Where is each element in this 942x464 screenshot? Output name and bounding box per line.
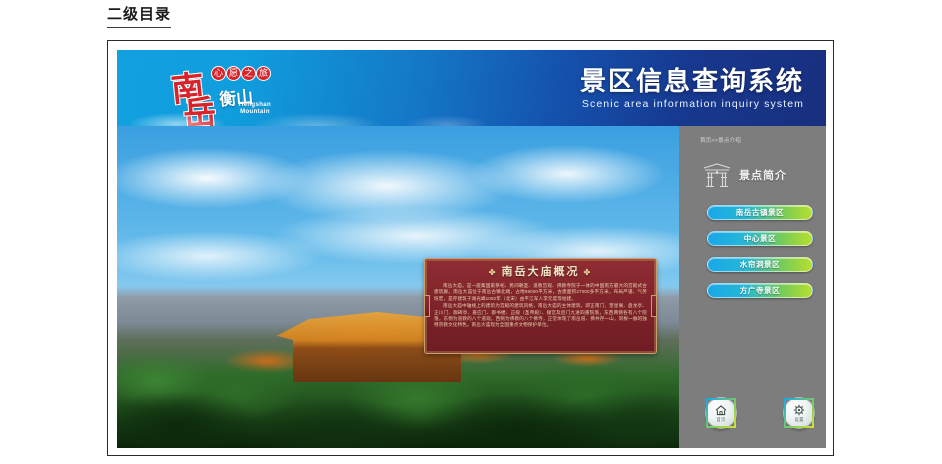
- gear-icon: [793, 404, 805, 416]
- system-title: 景区信息查询系统: [580, 66, 804, 96]
- nanyue-logo: 南 岳 心 愿 之 旅 衡山 Hengshan Mountain: [169, 60, 319, 120]
- breadcrumb[interactable]: 首页>>景点介绍: [700, 136, 741, 144]
- logo-badge-4: 旅: [256, 66, 271, 81]
- plaque-paragraph: 南岳大庙中轴线上的建筑为宫殿的建筑风格，南岳大庙的主体建筑，即正南门、奎星阁、盘…: [434, 303, 647, 329]
- sidebar-item-nanyue-ancient-town[interactable]: 南岳古镇景区: [707, 205, 813, 220]
- logo-badge-2: 愿: [226, 66, 241, 81]
- home-button[interactable]: 首页: [706, 398, 736, 428]
- ornament-left-icon: ✤: [489, 268, 498, 277]
- settings-button[interactable]: 设置: [784, 398, 814, 428]
- logo-char-yue: 岳: [181, 85, 217, 126]
- banner-title-block: 景区信息查询系统 Scenic area information inquiry…: [580, 66, 804, 111]
- section-header: 景点简介: [702, 154, 820, 196]
- sidebar-item-shuiliandong-scenic-area[interactable]: 水帘洞景区: [707, 257, 813, 272]
- plaque-title: ✤南岳大庙概况✤: [434, 265, 647, 280]
- plaque-paragraph: 南岳大庙，是一座集国家祭祀、民间朝圣、道教宫观、佛教寺院于一体的中国南方最大的宫…: [434, 283, 647, 302]
- home-icon: [715, 405, 727, 416]
- info-plaque: ✤南岳大庙概况✤ 南岳大庙，是一座集国家祭祀、民间朝圣、道教宫观、佛教寺院于一体…: [424, 258, 657, 354]
- sidebar-nav-list: 南岳古镇景区 中心景区 水帘洞景区 方广寺景区: [707, 205, 813, 298]
- chinese-gate-icon: [702, 161, 732, 189]
- sidebar-item-fangguangsi-scenic-area[interactable]: 方广寺景区: [707, 283, 813, 298]
- home-button-label: 首页: [716, 417, 725, 422]
- app-window: 南 岳 心 愿 之 旅 衡山 Hengshan Mountain 景区信息查询系…: [117, 50, 826, 448]
- system-subtitle: Scenic area information inquiry system: [580, 98, 804, 111]
- sidebar-action-buttons: 首页 设置: [706, 398, 814, 428]
- section-title: 景点简介: [739, 167, 787, 183]
- plaque-title-text: 南岳大庙概况: [502, 266, 580, 278]
- settings-button-label: 设置: [794, 417, 803, 422]
- ornament-right-icon: ✤: [584, 268, 593, 277]
- scenic-photo-panel: ✤南岳大庙概况✤ 南岳大庙，是一座集国家祭祀、民间朝圣、道教宫观、佛教寺院于一体…: [117, 126, 679, 448]
- logo-badge-1: 心: [211, 66, 226, 81]
- app-frame: 南 岳 心 愿 之 旅 衡山 Hengshan Mountain 景区信息查询系…: [107, 40, 834, 456]
- right-sidebar: 首页>>景点介绍 景点简介: [692, 126, 826, 448]
- sidebar-item-central-scenic-area[interactable]: 中心景区: [707, 231, 813, 246]
- plaque-body: 南岳大庙，是一座集国家祭祀、民间朝圣、道教宫观、佛教寺院于一体的中国南方最大的宫…: [434, 283, 647, 329]
- logo-badge-3: 之: [241, 66, 256, 81]
- logo-hengshan-en: Hengshan Mountain: [225, 102, 285, 116]
- app-banner: 南 岳 心 愿 之 旅 衡山 Hengshan Mountain 景区信息查询系…: [117, 50, 826, 126]
- page-title: 二级目录: [107, 6, 171, 28]
